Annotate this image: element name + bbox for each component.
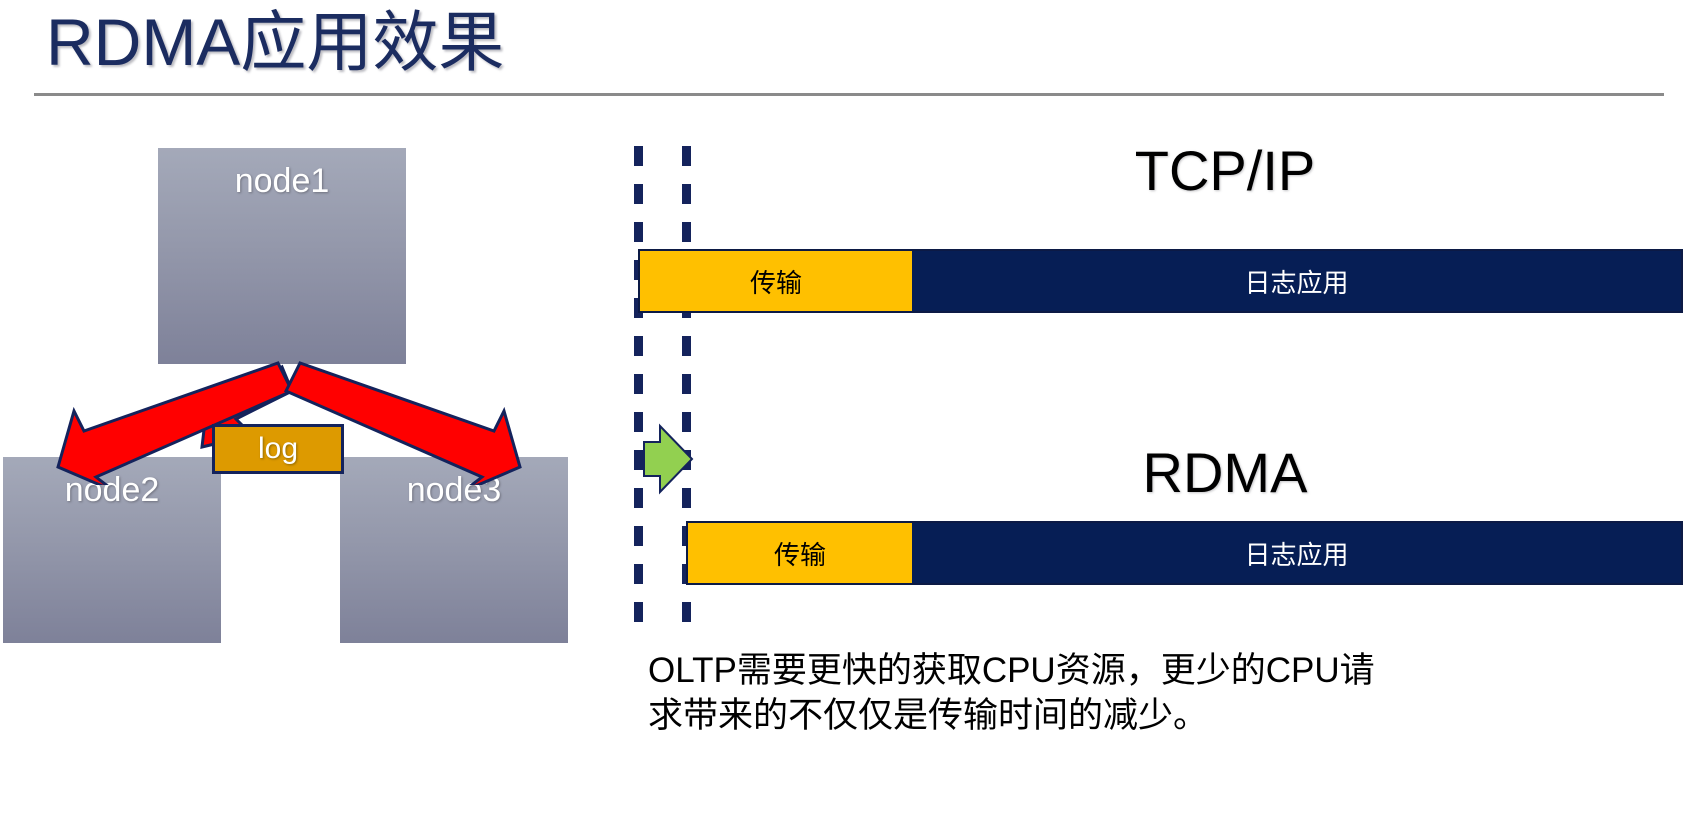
time-saved-arrow-icon <box>640 404 696 514</box>
bar-segment-log-apply: 日志应用 <box>912 251 1681 311</box>
bar-segment-transfer: 传输 <box>688 523 912 583</box>
protocol-label-rdma: RDMA <box>985 440 1465 505</box>
slide-canvas: RDMA应用效果 node1 node2 node3 log TCP/IP 传输… <box>0 0 1696 826</box>
page-title: RDMA应用效果 <box>46 2 504 82</box>
node-box-node1: node1 <box>158 148 406 364</box>
bar-segment-log-apply: 日志应用 <box>912 523 1681 583</box>
caption-line-1: OLTP需要更快的获取CPU资源，更少的CPU请 <box>648 648 1408 693</box>
node-label: node1 <box>158 162 406 201</box>
protocol-label-tcpip: TCP/IP <box>985 138 1465 203</box>
bar-segment-transfer: 传输 <box>640 251 912 311</box>
timeline-bar-tcpip: 传输 日志应用 <box>638 249 1683 313</box>
timeline-bar-rdma: 传输 日志应用 <box>686 521 1683 585</box>
caption-text: OLTP需要更快的获取CPU资源，更少的CPU请 求带来的不仅仅是传输时间的减少… <box>648 648 1408 738</box>
log-box: log <box>212 424 344 474</box>
caption-line-2: 求带来的不仅仅是传输时间的减少。 <box>648 693 1408 738</box>
title-divider <box>34 93 1664 96</box>
reference-line-start <box>634 146 643 624</box>
